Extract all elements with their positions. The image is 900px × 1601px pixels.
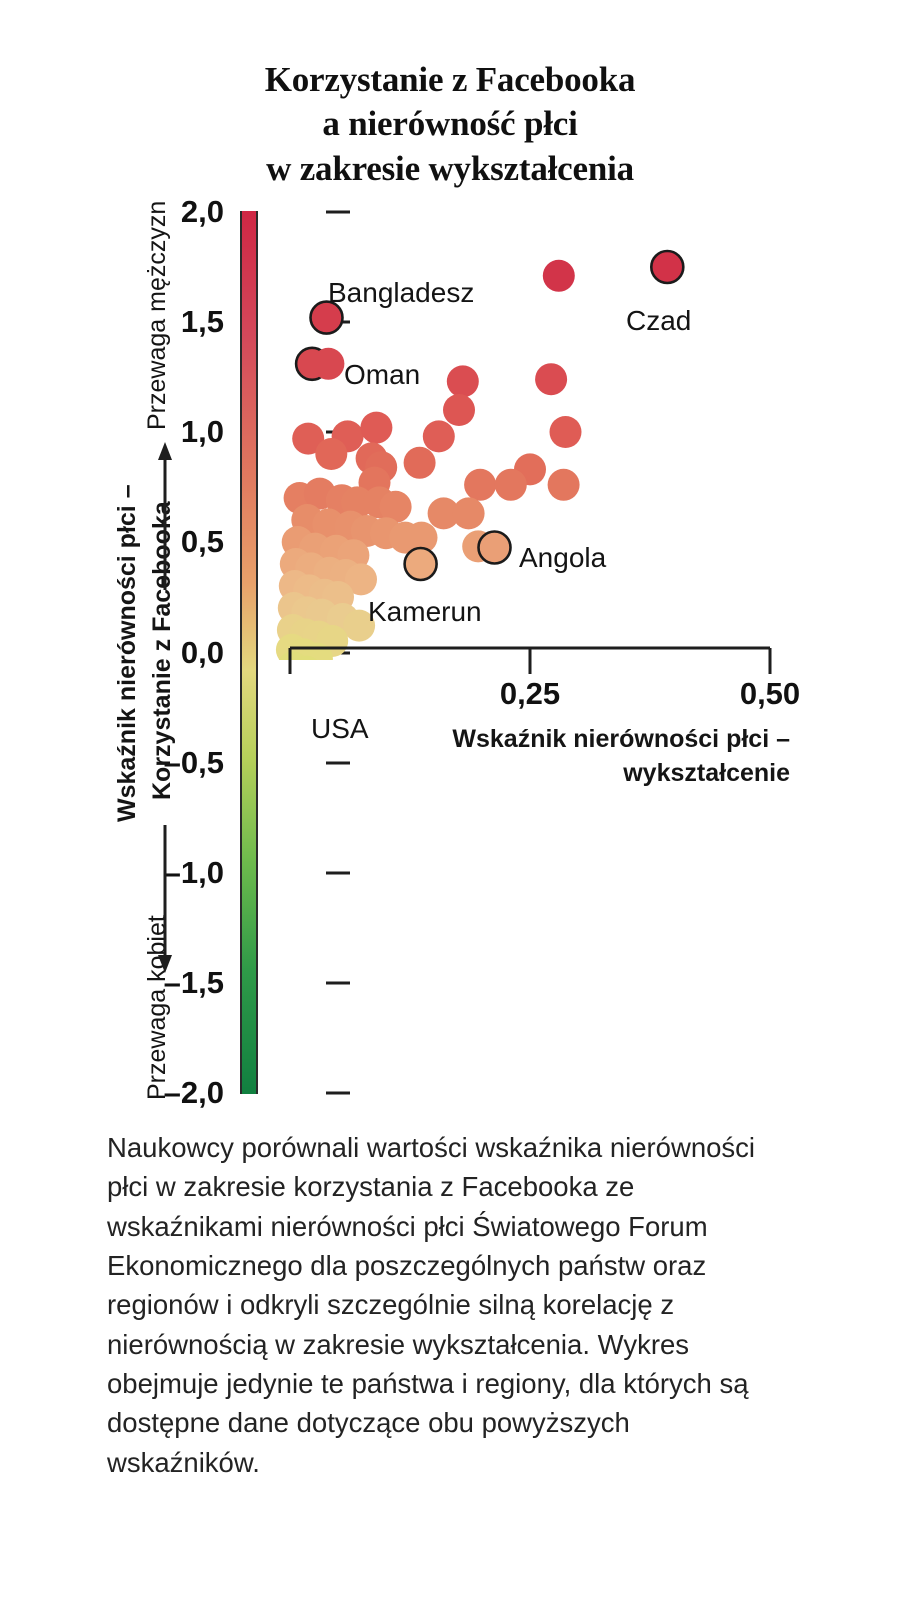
y-axis-title-line1: Wskaźnik nierówności płci – [113, 484, 142, 822]
annotation-label-angola: Angola [519, 542, 606, 574]
y-tick-mark-6 [326, 871, 350, 874]
scatter-point [404, 447, 436, 479]
scatter-point [453, 497, 485, 529]
scatter-point-highlighted [651, 251, 683, 283]
scatter-point [535, 363, 567, 395]
x-tick-label-025: 0,25 [500, 676, 560, 712]
y-tick-mark-5 [326, 761, 350, 764]
scatter-point [443, 394, 475, 426]
x-axis-title-line1: Wskaźnik nierówności płci – [400, 723, 790, 757]
scatter-point [447, 365, 479, 397]
figure-caption: Naukowcy porównali wartości wskaźnika ni… [107, 1128, 787, 1482]
scatter-point [543, 260, 575, 292]
x-axis-title-line2: wykształcenie [400, 757, 790, 791]
x-tick-label-050: 0,50 [740, 676, 800, 712]
up-arrow-icon [150, 440, 180, 590]
down-arrow-icon [150, 825, 180, 975]
scatter-point [464, 469, 496, 501]
scatter-point-highlighted [405, 548, 437, 580]
scatter-point [548, 469, 580, 501]
annotation-label-bangladesz: Bangladesz [328, 277, 474, 309]
annotation-label-kamerun: Kamerun [368, 596, 482, 628]
male-advantage-label: Przewaga mężczyzn [143, 201, 172, 430]
scatter-point [360, 412, 392, 444]
scatter-plot-area [258, 205, 778, 660]
annotation-label-czad: Czad [626, 305, 691, 337]
x-axis-line [270, 640, 790, 680]
scatter-points [258, 205, 778, 660]
scatter-point-highlighted [479, 532, 511, 564]
scatter-point [423, 420, 455, 452]
scatter-point [495, 469, 527, 501]
scatter-point [312, 348, 344, 380]
annotation-label-usa: USA [311, 713, 369, 745]
y-tick-mark-7 [326, 981, 350, 984]
scatter-point [550, 416, 582, 448]
scatter-point [315, 438, 347, 470]
y-tick-mark-8 [326, 1092, 350, 1095]
x-axis-title: Wskaźnik nierówności płci – wykształceni… [400, 723, 790, 791]
colorbar-legend [240, 211, 258, 1094]
caption-text: Naukowcy porównali wartości wskaźnika ni… [107, 1128, 787, 1482]
chart-figure: 2,01,51,00,50,0–0,5–1,0–1,5–2,0 Wskaźnik… [0, 0, 900, 1120]
colorbar-gradient [242, 211, 256, 1094]
annotation-label-oman: Oman [344, 359, 420, 391]
